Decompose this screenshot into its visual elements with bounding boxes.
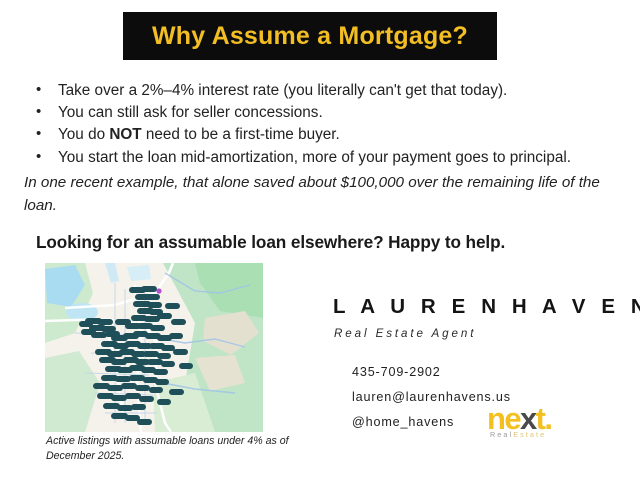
bullet-text-pre: You do [58, 126, 109, 143]
listings-map[interactable] [45, 263, 263, 432]
list-item: Take over a 2%–4% interest rate (you lit… [24, 80, 620, 102]
title-banner: Why Assume a Mortgage? [123, 12, 497, 60]
savings-note: In one recent example, that alone saved … [24, 172, 612, 217]
logo-estate-text: Estate [513, 430, 546, 439]
cta-subheading: Looking for an assumable loan elsewhere?… [36, 232, 505, 253]
agent-phone[interactable]: 435-709-2902 [352, 360, 592, 385]
benefits-list: Take over a 2%–4% interest rate (you lit… [24, 80, 620, 169]
map-graphic [45, 263, 263, 432]
bullet-text-pre: Take over a 2%–4% interest rate (you lit… [58, 82, 507, 99]
agent-role: Real Estate Agent [334, 327, 476, 340]
page-title: Why Assume a Mortgage? [152, 24, 468, 49]
bullet-text-pre: You can still ask for seller concessions… [58, 104, 323, 121]
list-item: You do NOT need to be a first-time buyer… [24, 124, 620, 146]
logo-real-text: Real [490, 430, 513, 439]
list-item: You start the loan mid-amortization, mor… [24, 147, 620, 169]
logo-wordmark: next. [487, 404, 583, 433]
agent-name: L A U R E N H A V E N S [333, 295, 640, 319]
bullet-text-bold: NOT [109, 126, 141, 143]
bullet-text-post: need to be a first-time buyer. [142, 126, 340, 143]
list-item: You can still ask for seller concessions… [24, 102, 620, 124]
map-caption: Active listings with assumable loans und… [46, 434, 296, 463]
next-realestate-logo: next. RealEstate [487, 404, 583, 444]
logo-tagline: RealEstate [487, 430, 583, 439]
bullet-text-pre: You start the loan mid-amortization, mor… [58, 149, 571, 166]
